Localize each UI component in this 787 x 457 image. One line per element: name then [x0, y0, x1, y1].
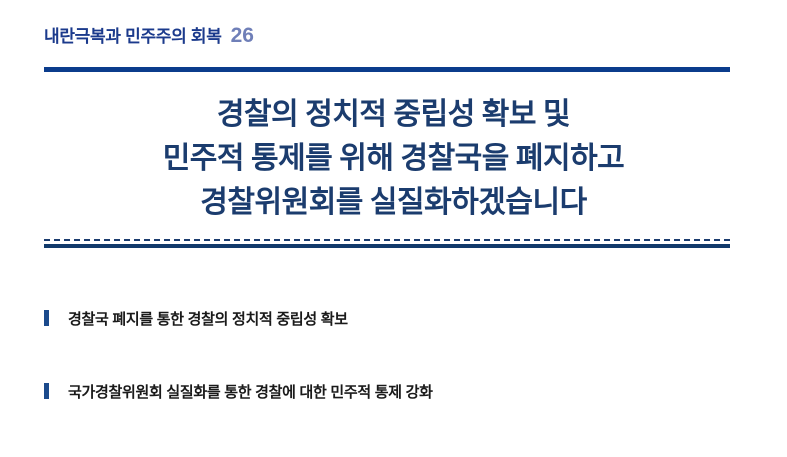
- header-title: 내란극복과 민주주의 회복: [44, 22, 222, 47]
- bullet-list: 경찰국 폐지를 통한 경찰의 정치적 중립성 확보 국가경찰위원회 실질화를 통…: [44, 300, 744, 409]
- header-rule-bar: [44, 67, 730, 72]
- list-item: 경찰국 폐지를 통한 경찰의 정치적 중립성 확보: [44, 300, 744, 336]
- bullet-item-text-2: 국가경찰위원회 실질화를 통한 경찰에 대한 민주적 통제 강화: [68, 381, 433, 402]
- bullet-marker-icon: [44, 383, 49, 399]
- slide-header: 내란극복과 민주주의 회복 26: [44, 22, 254, 48]
- main-title-line-1: 경찰의 정치적 중립성 확보 및: [0, 93, 787, 137]
- list-item: 국가경찰위원회 실질화를 통한 경찰에 대한 민주적 통제 강화: [44, 373, 744, 409]
- slide: 내란극복과 민주주의 회복 26 경찰의 정치적 중립성 확보 및 민주적 통제…: [0, 0, 787, 457]
- main-title-line-3: 경찰위원회를 실질화하겠습니다: [0, 181, 787, 225]
- header-page-number: 26: [231, 24, 254, 48]
- main-title-line-2: 민주적 통제를 위해 경찰국을 폐지하고: [0, 137, 787, 181]
- bullet-item-text-1: 경찰국 폐지를 통한 경찰의 정치적 중립성 확보: [68, 308, 348, 329]
- divider-solid-line: [44, 244, 730, 248]
- section-divider: [44, 239, 730, 248]
- divider-dashed-line: [44, 239, 730, 241]
- main-title: 경찰의 정치적 중립성 확보 및 민주적 통제를 위해 경찰국을 폐지하고 경찰…: [0, 93, 787, 225]
- bullet-marker-icon: [44, 310, 49, 326]
